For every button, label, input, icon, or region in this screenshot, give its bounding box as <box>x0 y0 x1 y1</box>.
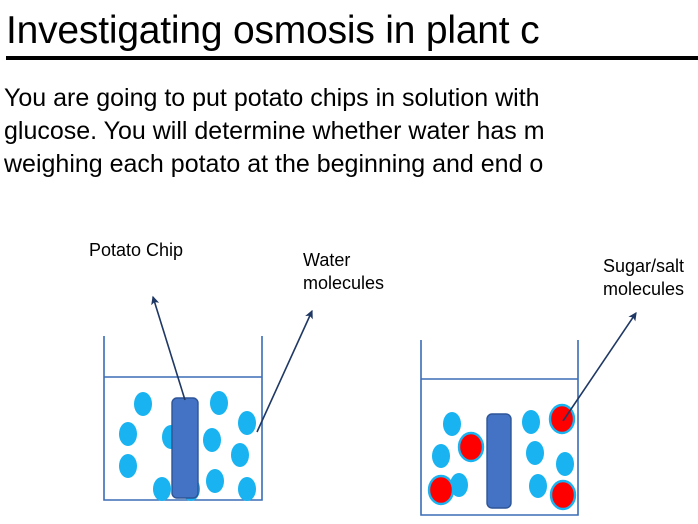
right-beaker-sugar-salt-molecule <box>459 433 483 461</box>
left-beaker-water-molecule <box>210 391 228 415</box>
arrow-to-sugar-salt-molecule <box>563 313 636 421</box>
arrow-to-water-molecule <box>257 311 312 432</box>
right-beaker-water-molecule <box>443 412 461 436</box>
right-beaker-potato-chip <box>487 414 511 508</box>
left-beaker-water-molecule <box>238 477 256 501</box>
right-beaker-water-molecule <box>556 452 574 476</box>
right-beaker-water-molecule <box>432 444 450 468</box>
left-beaker-water-molecule <box>119 454 137 478</box>
left-beaker-water-molecule <box>238 411 256 435</box>
right-beaker-sugar-salt-molecule <box>551 481 575 509</box>
left-beaker-potato-chip <box>172 398 198 498</box>
left-beaker-water-molecule <box>153 477 171 501</box>
right-beaker-water-molecule <box>529 474 547 498</box>
left-beaker <box>104 336 262 501</box>
osmosis-diagram <box>0 0 698 524</box>
right-beaker <box>421 340 578 515</box>
right-beaker-water-molecule <box>522 410 540 434</box>
left-beaker-water-molecule <box>206 469 224 493</box>
right-beaker-water-molecule <box>526 441 544 465</box>
left-beaker-water-molecule <box>134 392 152 416</box>
left-beaker-water-molecule <box>119 422 137 446</box>
right-beaker-sugar-salt-molecule <box>429 476 453 504</box>
arrow-to-potato-chip <box>153 297 185 400</box>
left-beaker-water-molecule <box>231 443 249 467</box>
left-beaker-water-molecule <box>203 428 221 452</box>
beakers-group <box>104 336 578 515</box>
